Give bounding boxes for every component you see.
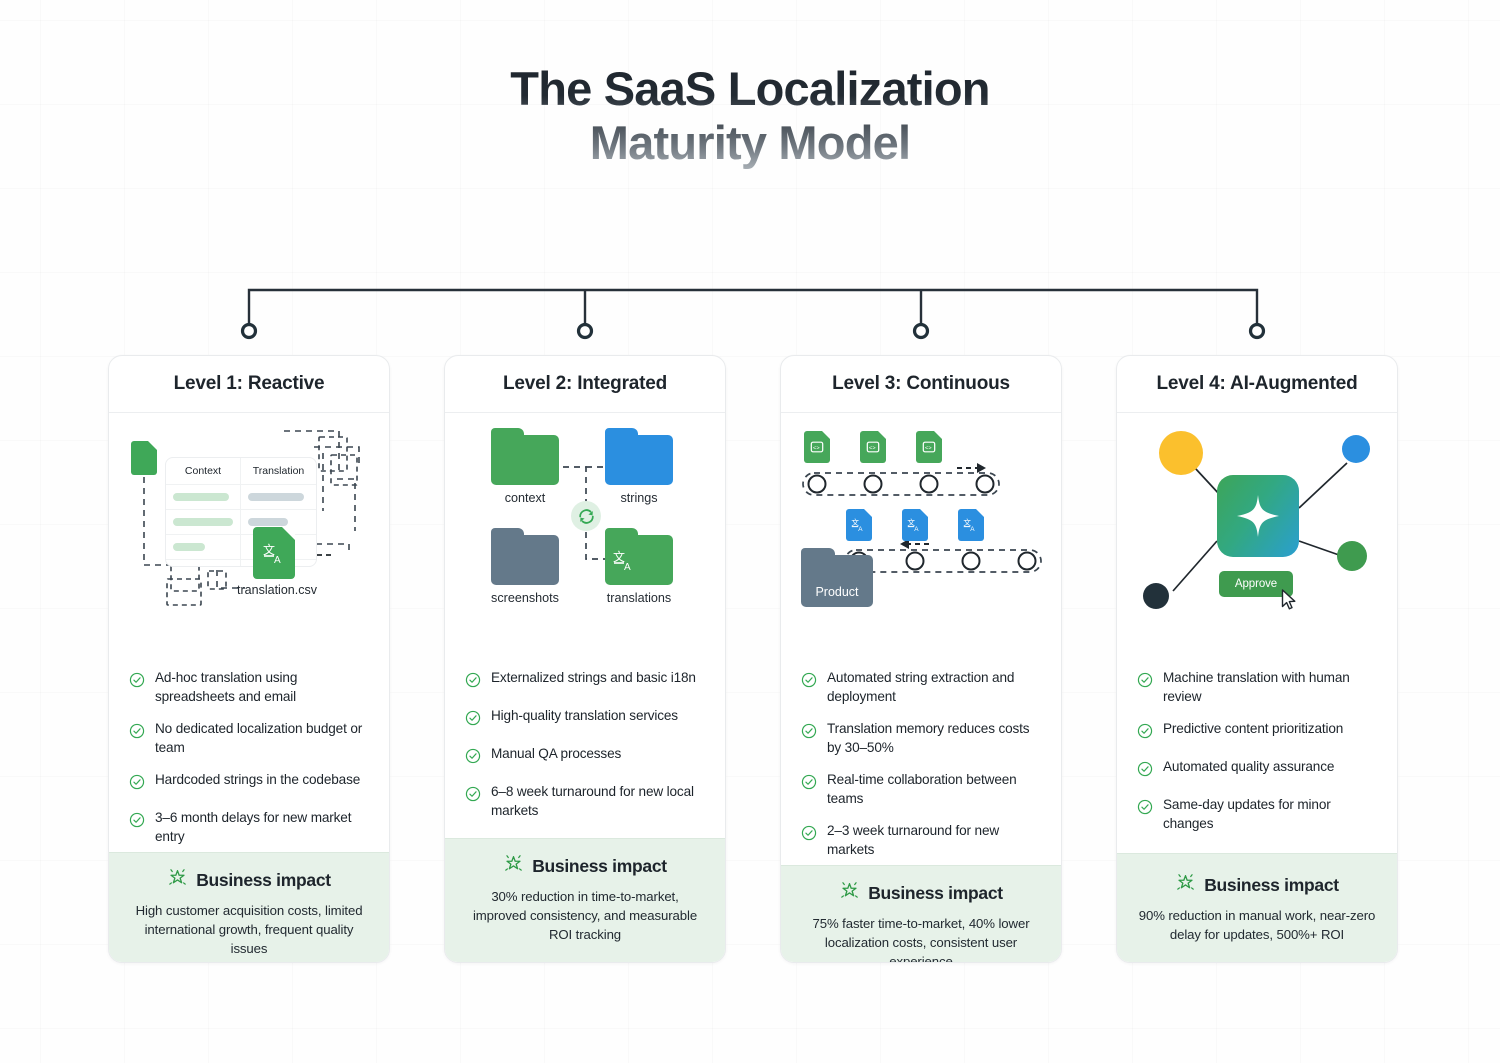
- list-item-label: Translation memory reduces costs by 30–5…: [827, 720, 1043, 757]
- svg-text:<>: <>: [869, 445, 876, 452]
- check-circle-icon: [801, 774, 817, 795]
- list-item-label: High-quality translation services: [491, 707, 678, 726]
- business-impact-title: Business impact: [196, 870, 331, 891]
- list-item-label: Automated string extraction and deployme…: [827, 669, 1043, 706]
- business-impact-title: Business impact: [868, 883, 1003, 904]
- illustration-ai-network: Approve: [1117, 413, 1397, 653]
- timeline-node-4: [1251, 325, 1264, 338]
- list-item: Predictive content prioritization: [1137, 720, 1379, 744]
- check-circle-icon: [129, 672, 145, 693]
- svg-text:A: A: [970, 526, 975, 533]
- level-card-4[interactable]: Level 4: AI-Augmented Approve: [1116, 355, 1398, 963]
- svg-text:A: A: [274, 555, 281, 565]
- list-item-label: 2–3 week turnaround for new markets: [827, 822, 1043, 859]
- list-item: Manual QA processes: [465, 745, 707, 769]
- list-item: 3–6 month delays for new market entry: [129, 809, 371, 846]
- translate-glyph: 文 A: [262, 541, 286, 565]
- list-item: 6–8 week turnaround for new local market…: [465, 783, 707, 820]
- product-folder-icon: Product: [801, 555, 873, 607]
- folder-label-strings: strings: [584, 491, 694, 505]
- timeline-node-2: [579, 325, 592, 338]
- infographic-canvas: The SaaS Localization Maturity Model Lev…: [0, 0, 1500, 1063]
- sync-icon: [571, 501, 601, 531]
- list-item: Hardcoded strings in the codebase: [129, 771, 371, 795]
- product-folder-label: Product: [801, 585, 873, 599]
- card-title-3: Level 3: Continuous: [781, 356, 1061, 413]
- feature-list-3: Automated string extraction and deployme…: [781, 653, 1061, 865]
- business-impact-title: Business impact: [532, 856, 667, 877]
- translation-file-icon: 文A: [902, 509, 928, 541]
- list-item: Same-day updates for minor changes: [1137, 796, 1379, 833]
- title-line-1: The SaaS Localization: [0, 62, 1500, 116]
- check-circle-icon: [801, 672, 817, 693]
- folder-translations: 文A: [605, 535, 673, 585]
- table-header-context: Context: [166, 458, 241, 484]
- list-item: No dedicated localization budget or team: [129, 720, 371, 757]
- list-item-label: 3–6 month delays for new market entry: [155, 809, 371, 846]
- check-circle-icon: [1137, 723, 1153, 744]
- business-impact-1: Business impact High customer acquisitio…: [109, 852, 389, 963]
- business-impact-text: High customer acquisition costs, limited…: [127, 901, 371, 958]
- translation-file-icon: 文A: [958, 509, 984, 541]
- check-circle-icon: [801, 825, 817, 846]
- list-item-label: 6–8 week turnaround for new local market…: [491, 783, 707, 820]
- check-circle-icon: [129, 812, 145, 833]
- svg-text:<>: <>: [925, 445, 932, 452]
- node-yellow: [1159, 431, 1203, 475]
- card-title-1: Level 1: Reactive: [109, 356, 389, 413]
- card-title-4: Level 4: AI-Augmented: [1117, 356, 1397, 413]
- mouse-cursor-icon: [1281, 589, 1299, 616]
- ai-sparkle-icon: [1217, 475, 1299, 557]
- list-item: Ad-hoc translation using spreadsheets an…: [129, 669, 371, 706]
- business-impact-title: Business impact: [1204, 875, 1339, 896]
- list-item: 2–3 week turnaround for new markets: [801, 822, 1043, 859]
- translation-file-icon: 文 A: [253, 527, 295, 579]
- sparkle-star-icon: [503, 853, 524, 879]
- feature-list-2: Externalized strings and basic i18n High…: [445, 653, 725, 838]
- check-circle-icon: [1137, 672, 1153, 693]
- business-impact-2: Business impact 30% reduction in time-to…: [445, 838, 725, 962]
- check-circle-icon: [1137, 761, 1153, 782]
- timeline-node-3: [915, 325, 928, 338]
- source-document-icon: [131, 441, 157, 475]
- folder-label-translations: translations: [584, 591, 694, 605]
- list-item-label: Automated quality assurance: [1163, 758, 1334, 777]
- level-card-2[interactable]: Level 2: Integrated context strings: [444, 355, 726, 963]
- node-green: [1337, 541, 1367, 571]
- table-row: [166, 485, 316, 510]
- folder-strings: [605, 435, 673, 485]
- level-card-1[interactable]: Level 1: Reactive: [108, 355, 390, 963]
- list-item: Real-time collaboration between teams: [801, 771, 1043, 808]
- illustration-folders: context strings screenshots 文A translati…: [445, 413, 725, 653]
- svg-text:A: A: [624, 562, 631, 573]
- title-line-2: Maturity Model: [0, 116, 1500, 170]
- list-item-label: Manual QA processes: [491, 745, 621, 764]
- illustration-spreadsheet: Context Translation 文 A translation.csv: [109, 413, 389, 653]
- sparkle-star-icon: [1175, 872, 1196, 898]
- card-title-2: Level 2: Integrated: [445, 356, 725, 413]
- business-impact-4: Business impact 90% reduction in manual …: [1117, 853, 1397, 962]
- svg-text:<>: <>: [813, 445, 820, 452]
- folder-label-screenshots: screenshots: [470, 591, 580, 605]
- list-item: Translation memory reduces costs by 30–5…: [801, 720, 1043, 757]
- check-circle-icon: [129, 723, 145, 744]
- check-circle-icon: [1137, 799, 1153, 820]
- list-item: Automated quality assurance: [1137, 758, 1379, 782]
- sparkle-star-icon: [167, 867, 188, 893]
- code-file-icon: <>: [860, 431, 886, 463]
- node-dark: [1143, 583, 1169, 609]
- list-item-label: No dedicated localization budget or team: [155, 720, 371, 757]
- timeline-connector: [0, 268, 1500, 348]
- translate-glyph: 文A: [613, 549, 637, 578]
- list-item-label: Predictive content prioritization: [1163, 720, 1343, 739]
- list-item: High-quality translation services: [465, 707, 707, 731]
- list-item-label: Ad-hoc translation using spreadsheets an…: [155, 669, 371, 706]
- feature-list-4: Machine translation with human review Pr…: [1117, 653, 1397, 853]
- sparkle-star-icon: [839, 880, 860, 906]
- list-item-label: Machine translation with human review: [1163, 669, 1379, 706]
- list-item: Machine translation with human review: [1137, 669, 1379, 706]
- list-item-label: Externalized strings and basic i18n: [491, 669, 696, 688]
- code-file-icon: <>: [916, 431, 942, 463]
- list-item-label: Hardcoded strings in the codebase: [155, 771, 360, 790]
- check-circle-icon: [801, 723, 817, 744]
- check-circle-icon: [465, 786, 481, 807]
- four-point-star-glyph: [1232, 490, 1284, 542]
- business-impact-text: 75% faster time-to-market, 40% lower loc…: [799, 914, 1043, 963]
- list-item: Automated string extraction and deployme…: [801, 669, 1043, 706]
- svg-text:A: A: [914, 526, 919, 533]
- page-title: The SaaS Localization Maturity Model: [0, 62, 1500, 170]
- illustration-pipeline: <> <> <> 文A 文A 文A Product: [781, 413, 1061, 653]
- feature-list-1: Ad-hoc translation using spreadsheets an…: [109, 653, 389, 852]
- illustration-2-lines: [445, 413, 726, 653]
- folder-context: [491, 435, 559, 485]
- list-item: Externalized strings and basic i18n: [465, 669, 707, 693]
- business-impact-3: Business impact 75% faster time-to-marke…: [781, 865, 1061, 963]
- check-circle-icon: [465, 748, 481, 769]
- translation-file-icon: 文A: [846, 509, 872, 541]
- check-circle-icon: [129, 774, 145, 795]
- business-impact-text: 30% reduction in time-to-market, improve…: [463, 887, 707, 944]
- list-item-label: Same-day updates for minor changes: [1163, 796, 1379, 833]
- timeline-node-1: [243, 325, 256, 338]
- table-header-translation: Translation: [241, 458, 316, 484]
- folder-screenshots: [491, 535, 559, 585]
- node-blue: [1342, 435, 1370, 463]
- code-file-icon: <>: [804, 431, 830, 463]
- svg-text:A: A: [858, 526, 863, 533]
- level-card-3[interactable]: Level 3: Continuous <> <> <>: [780, 355, 1062, 963]
- list-item-label: Real-time collaboration between teams: [827, 771, 1043, 808]
- table-header-row: Context Translation: [166, 458, 316, 485]
- folder-label-context: context: [470, 491, 580, 505]
- translation-file-label: translation.csv: [217, 583, 337, 597]
- check-circle-icon: [465, 710, 481, 731]
- check-circle-icon: [465, 672, 481, 693]
- business-impact-text: 90% reduction in manual work, near-zero …: [1135, 906, 1379, 944]
